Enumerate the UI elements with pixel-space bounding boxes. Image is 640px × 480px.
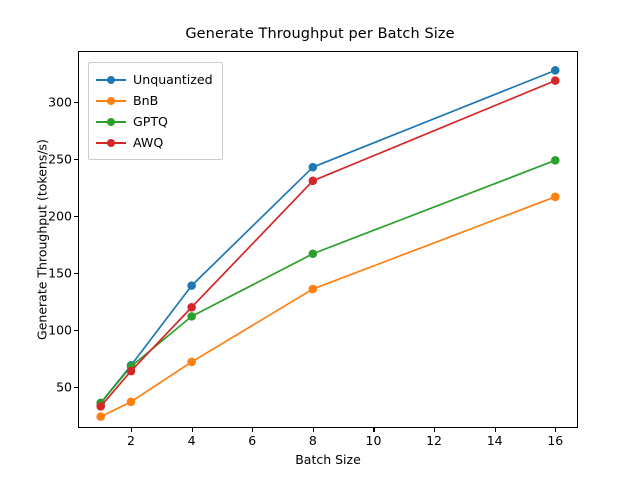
data-point-marker — [187, 281, 196, 290]
y-tick-mark — [74, 102, 78, 103]
y-tick-label: 50 — [32, 379, 72, 394]
data-point-marker — [551, 76, 560, 85]
y-tick-label: 300 — [32, 95, 72, 110]
series-line — [101, 197, 556, 417]
x-axis-label: Batch Size — [78, 452, 578, 467]
x-tick-label: 4 — [172, 433, 212, 448]
y-tick-mark — [74, 387, 78, 388]
y-tick-mark — [74, 159, 78, 160]
legend-swatch-icon — [96, 115, 126, 129]
legend-item-bnb[interactable]: BnB — [96, 90, 213, 111]
legend-swatch-icon — [96, 136, 126, 150]
data-point-marker — [551, 192, 560, 201]
x-tick-mark — [252, 428, 253, 432]
legend-label: BnB — [133, 93, 158, 108]
data-point-marker — [187, 358, 196, 367]
chart-title: Generate Throughput per Batch Size — [0, 26, 640, 42]
data-point-marker — [187, 303, 196, 312]
x-tick-mark — [373, 428, 374, 432]
x-tick-label: 10 — [353, 433, 393, 448]
x-tick-mark — [313, 428, 314, 432]
y-tick-mark — [74, 330, 78, 331]
series-gptq — [96, 156, 559, 407]
x-tick-mark — [192, 428, 193, 432]
legend-item-gptq[interactable]: GPTQ — [96, 111, 213, 132]
x-tick-mark — [555, 428, 556, 432]
x-tick-label: 12 — [414, 433, 454, 448]
data-point-marker — [127, 398, 136, 407]
chart-legend: UnquantizedBnBGPTQAWQ — [88, 62, 223, 160]
y-tick-label: 200 — [32, 209, 72, 224]
legend-label: GPTQ — [133, 114, 168, 129]
data-point-marker — [551, 156, 560, 165]
y-tick-mark — [74, 216, 78, 217]
data-point-marker — [309, 249, 318, 258]
legend-label: AWQ — [133, 135, 163, 150]
data-point-marker — [551, 66, 560, 75]
y-tick-label: 250 — [32, 152, 72, 167]
data-point-marker — [309, 177, 318, 186]
legend-item-unquantized[interactable]: Unquantized — [96, 69, 213, 90]
x-tick-mark — [434, 428, 435, 432]
x-tick-label: 2 — [111, 433, 151, 448]
legend-item-awq[interactable]: AWQ — [96, 132, 213, 153]
x-tick-label: 16 — [535, 433, 575, 448]
data-point-marker — [127, 367, 136, 376]
data-point-marker — [96, 402, 105, 411]
x-tick-mark — [131, 428, 132, 432]
y-tick-mark — [74, 273, 78, 274]
legend-label: Unquantized — [133, 72, 213, 87]
data-point-marker — [309, 285, 318, 294]
data-point-marker — [187, 312, 196, 321]
chart-figure: Generate Throughput per Batch Size Gener… — [0, 0, 640, 480]
data-point-marker — [96, 412, 105, 421]
x-tick-mark — [495, 428, 496, 432]
data-point-marker — [309, 163, 318, 172]
series-line — [101, 160, 556, 403]
y-tick-label: 100 — [32, 323, 72, 338]
legend-swatch-icon — [96, 94, 126, 108]
series-bnb — [96, 192, 559, 420]
x-tick-label: 8 — [293, 433, 333, 448]
y-tick-label: 150 — [32, 266, 72, 281]
x-tick-label: 6 — [232, 433, 272, 448]
legend-swatch-icon — [96, 73, 126, 87]
x-tick-label: 14 — [475, 433, 515, 448]
y-axis-tick-labels: 50100150200250300 — [24, 0, 72, 480]
